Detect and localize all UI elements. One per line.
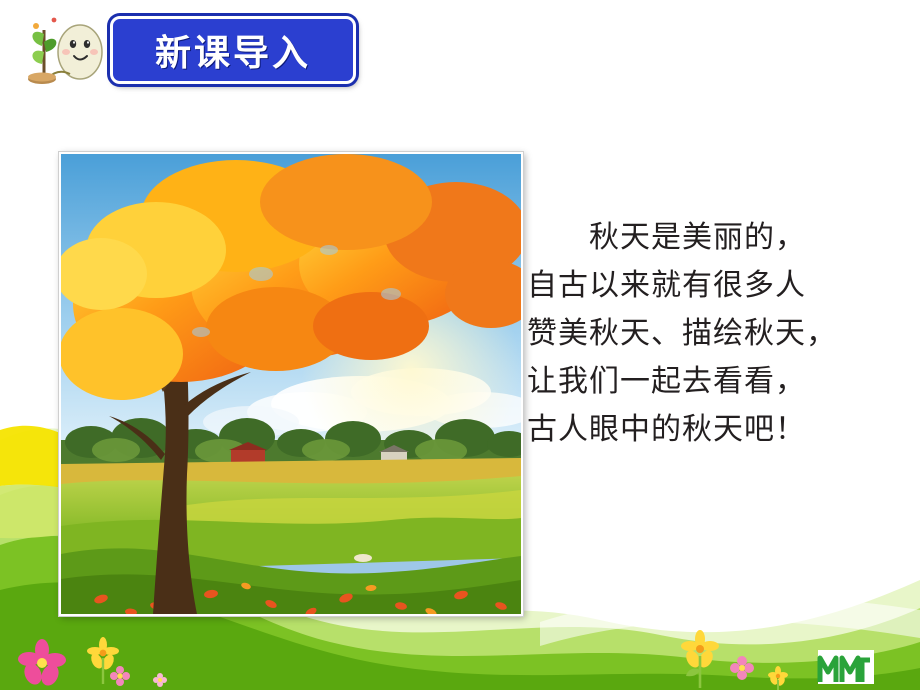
poem-text: 秋天是美丽的， 自古以来就有很多人 赞美秋天、描绘秋天， 让我们一起去看看， 古… [527,214,899,454]
mm-logo-icon [818,650,874,684]
slide-root: 新课导入 [0,0,920,690]
flower-border-decoration [0,610,920,690]
slide-title-badge: 新课导入 [110,16,356,84]
autumn-landscape-photo [59,152,523,616]
cartoon-egg-mascot [18,8,110,90]
slide-title-text: 新课导入 [155,24,311,76]
